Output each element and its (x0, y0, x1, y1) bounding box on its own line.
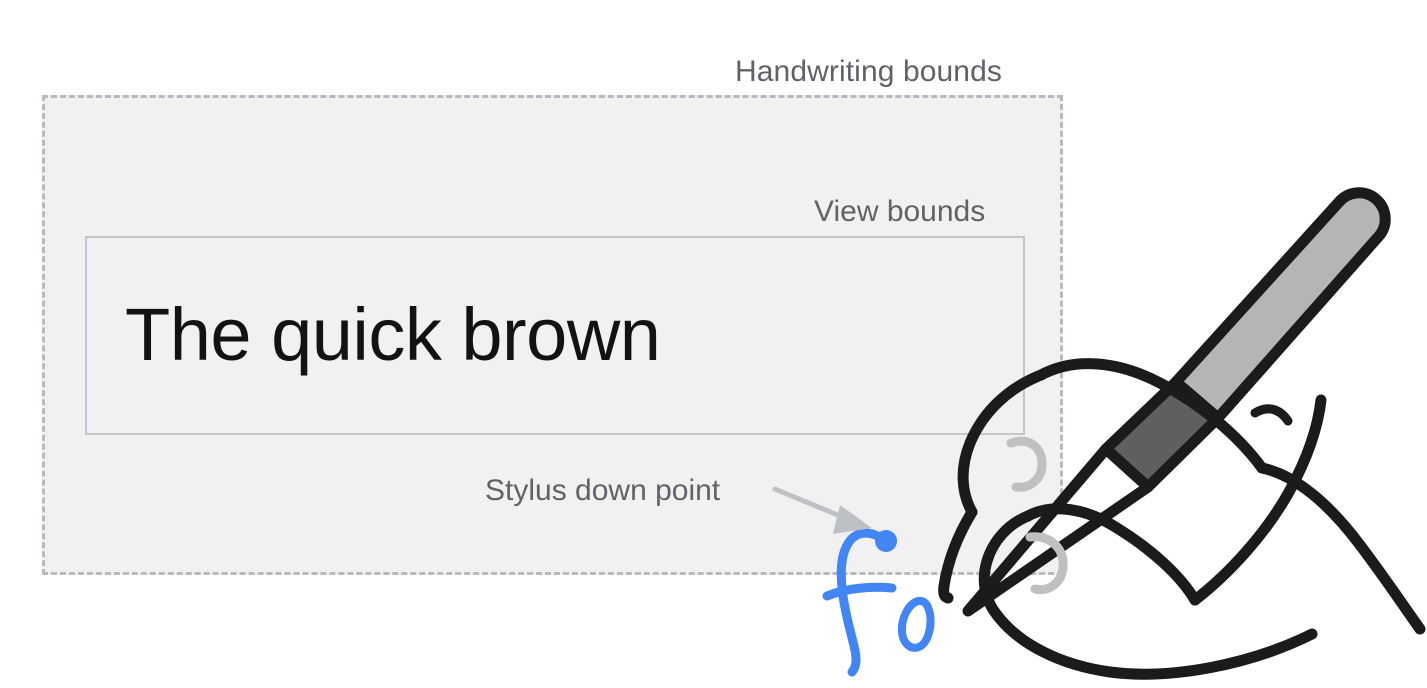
view-bounds-label: View bounds (814, 195, 985, 229)
handwriting-bounds-label: Handwriting bounds (735, 55, 1002, 89)
diagram-canvas: Handwriting bounds View bounds The quick… (0, 0, 1427, 688)
recognized-text: The quick brown (125, 295, 660, 375)
stylus-down-point-label: Stylus down point (485, 474, 720, 508)
